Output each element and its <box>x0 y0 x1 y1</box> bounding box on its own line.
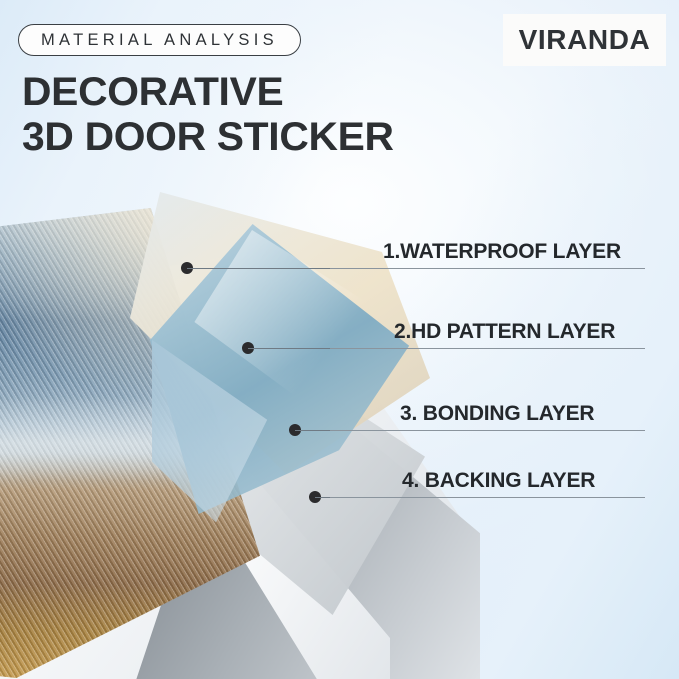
callout-label-2: 2.HD PATTERN LAYER <box>394 320 615 344</box>
title-line-1: DECORATIVE <box>22 70 283 114</box>
callout-underline-2 <box>330 348 645 349</box>
callout-underline-3 <box>330 430 645 431</box>
eyebrow-label: MATERIAL ANALYSIS <box>41 31 278 50</box>
callout-label-1: 1.WATERPROOF LAYER <box>383 240 621 264</box>
title-line-2: 3D DOOR STICKER <box>22 115 394 160</box>
page-title: DECORATIVE 3D DOOR STICKER <box>22 70 394 160</box>
brand-logo: VIRANDA <box>503 14 666 66</box>
callout-label-3: 3. BONDING LAYER <box>400 402 594 426</box>
poster-canvas: MATERIAL ANALYSIS VIRANDA DECORATIVE 3D … <box>0 0 679 679</box>
callout-label-4: 4. BACKING LAYER <box>402 469 595 493</box>
callout-underline-1 <box>330 268 645 269</box>
callout-underline-4 <box>330 497 645 498</box>
eyebrow-badge: MATERIAL ANALYSIS <box>18 24 301 56</box>
brand-name: VIRANDA <box>519 24 651 56</box>
